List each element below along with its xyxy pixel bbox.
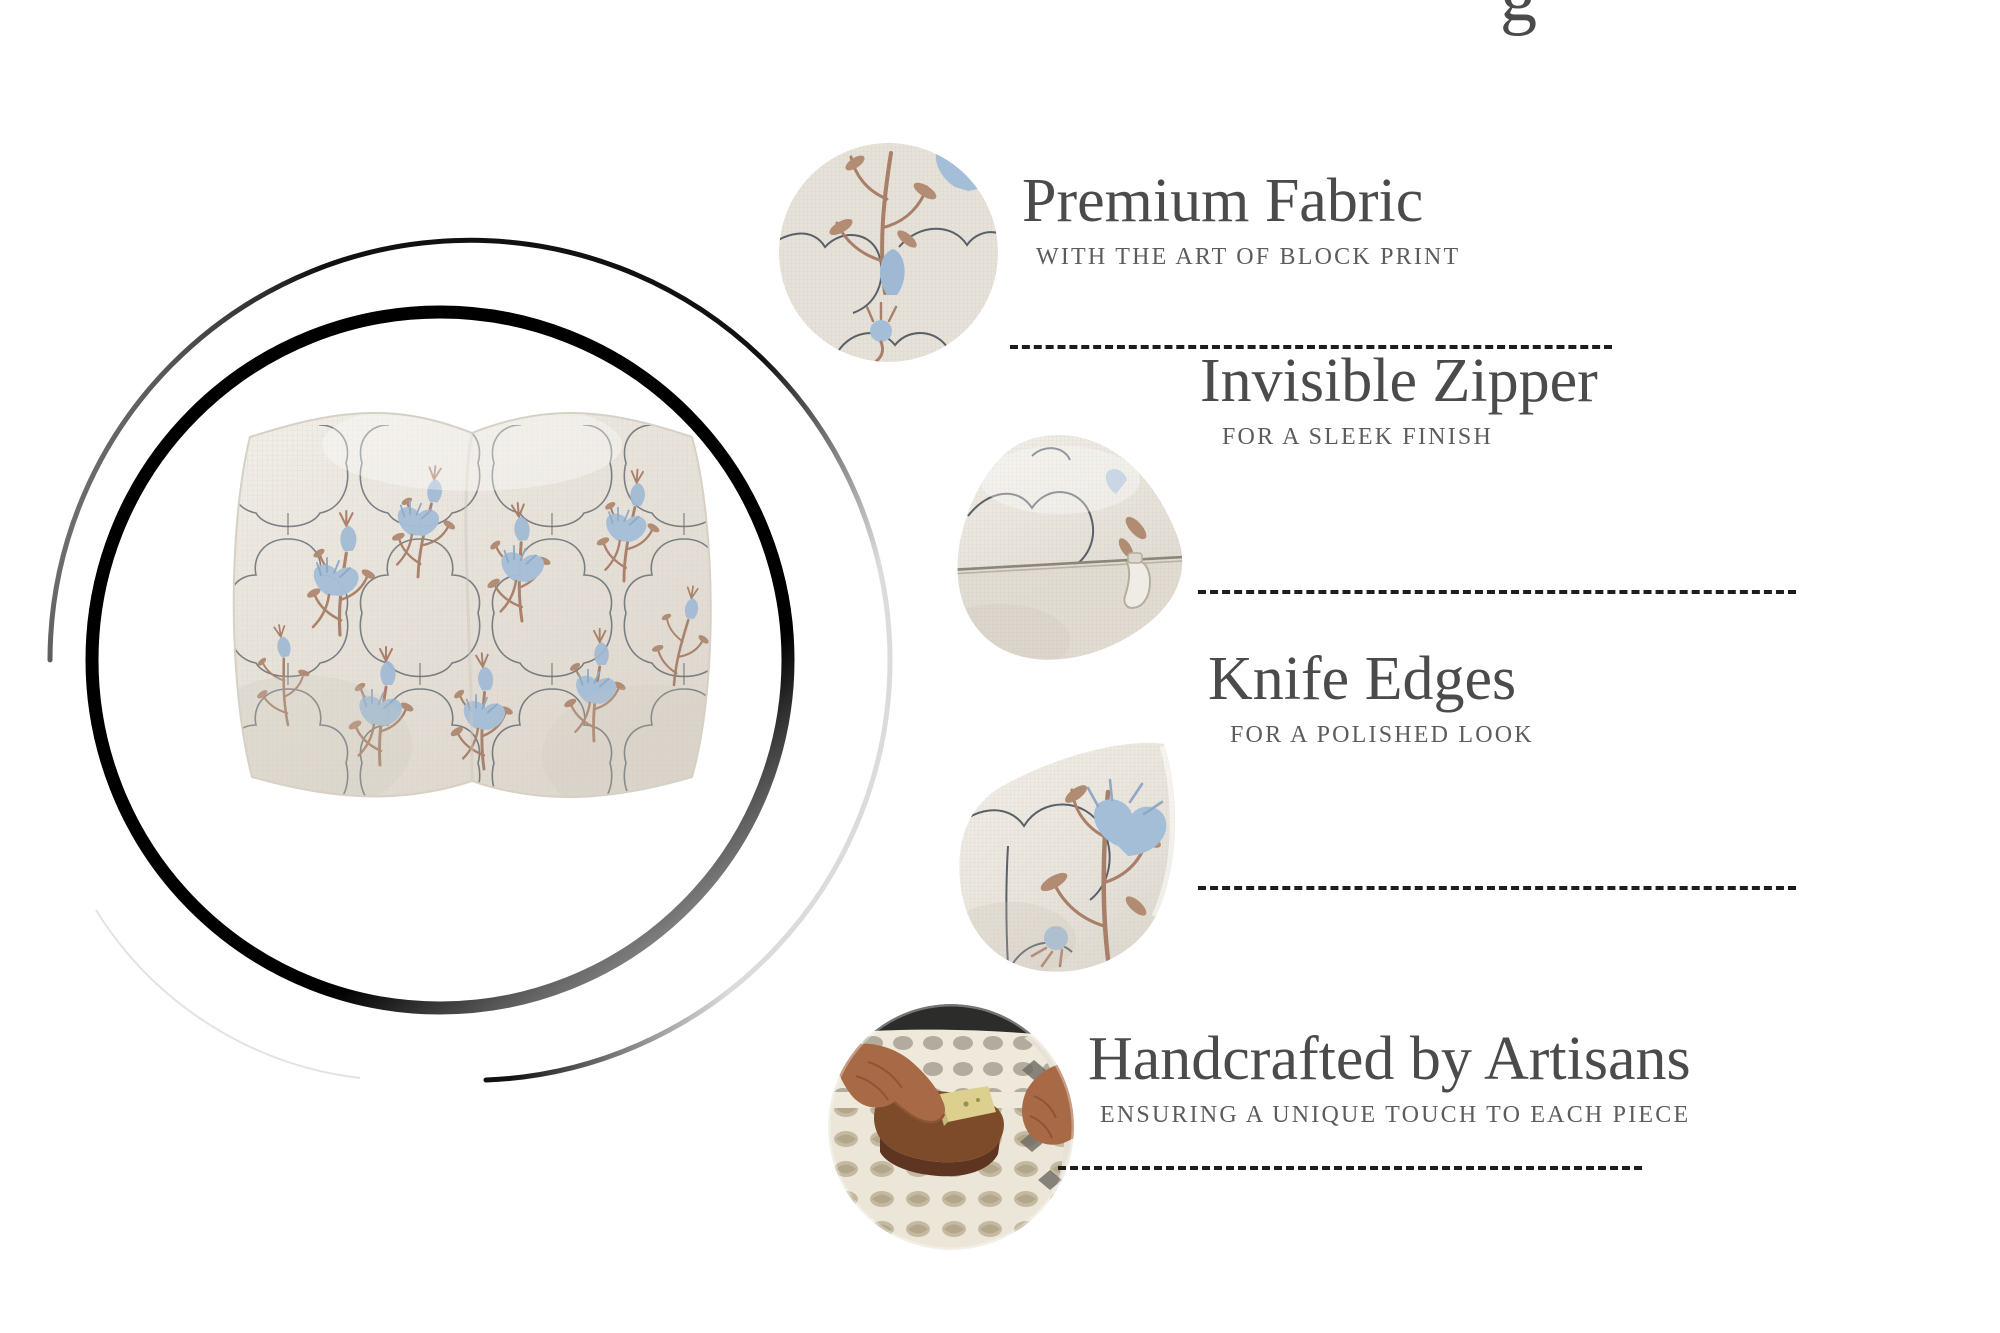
feature-divider bbox=[1058, 1166, 1642, 1170]
block-printing-thumbnail bbox=[828, 1004, 1074, 1250]
feature-subtitle: ENSURING A UNIQUE TOUCH TO EACH PIECE bbox=[1100, 1102, 1691, 1129]
feature-text-handcrafted: Handcrafted by Artisans ENSURING A UNIQU… bbox=[1088, 1028, 1691, 1129]
feature-title: Handcrafted by Artisans bbox=[1088, 1028, 1691, 1090]
feature-handcrafted-by-artisans: Handcrafted by Artisans ENSURING A UNIQU… bbox=[0, 0, 2000, 1333]
